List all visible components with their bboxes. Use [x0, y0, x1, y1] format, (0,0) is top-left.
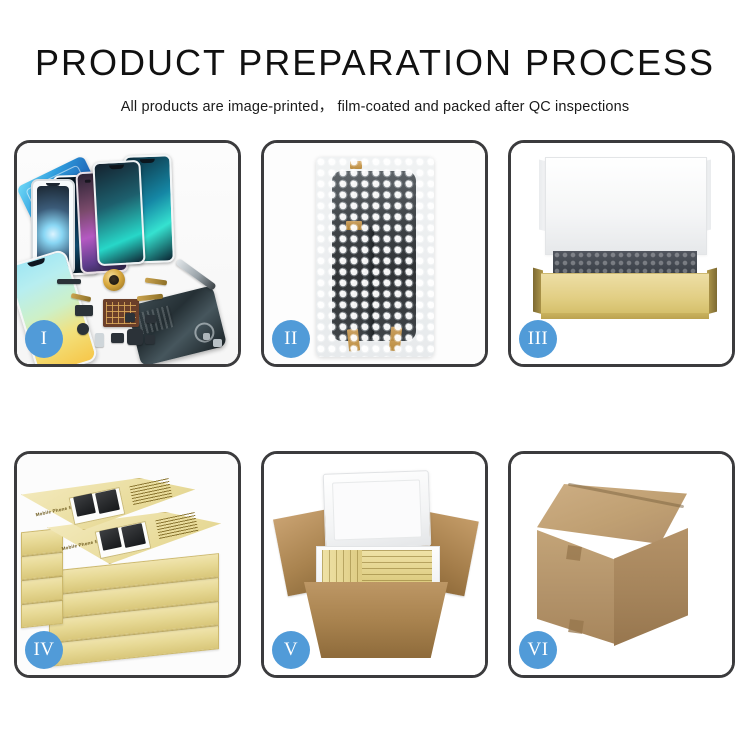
small-part [75, 305, 93, 316]
box-bubble-contents [553, 251, 697, 275]
step-badge: V [272, 631, 310, 669]
header: PRODUCT PREPARATION PROCESS All products… [0, 0, 750, 116]
page-subtitle: All products are image-printed， film-coa… [0, 82, 750, 116]
small-part [127, 329, 143, 345]
box-print-screen-image [121, 523, 146, 548]
stacked-box [21, 552, 63, 580]
step-badge: IV [25, 631, 63, 669]
carton-tape [566, 545, 582, 561]
box-kraft-body [541, 273, 709, 316]
step-panel-4: Mobile Phone Spare Parts Mobile Phone Sp… [14, 451, 241, 678]
foam-lid [323, 470, 432, 550]
phone-screen-1 [92, 160, 145, 266]
small-part [213, 339, 222, 347]
box-print-screen-image [73, 493, 96, 517]
steps-grid: I II [14, 140, 736, 678]
step-panel-1: I [14, 140, 241, 367]
small-part [77, 323, 89, 335]
step-badge: III [519, 320, 557, 358]
small-part [57, 279, 81, 284]
step-panel-3: III [508, 140, 735, 367]
step-badge: VI [519, 631, 557, 669]
carton-body [304, 582, 448, 658]
small-part [145, 315, 156, 323]
stacked-box [21, 600, 63, 628]
carton-tape [568, 619, 584, 634]
step-panel-6: VI [508, 451, 735, 678]
box-kraft-base [541, 313, 709, 319]
speaker-coil-part [103, 269, 125, 291]
product-preparation-infographic: PRODUCT PREPARATION PROCESS All products… [0, 0, 750, 750]
box-white-lid [545, 157, 707, 255]
small-part [125, 313, 135, 322]
bubble-texture-highlight [316, 157, 434, 357]
stacked-box [21, 576, 63, 604]
step-panel-2: II [261, 140, 488, 367]
page-title: PRODUCT PREPARATION PROCESS [0, 0, 750, 82]
small-part [145, 335, 155, 344]
small-part [203, 333, 210, 340]
box-print-screen-image [95, 489, 120, 514]
small-part [95, 333, 104, 347]
bubble-wrap-bag [316, 157, 434, 357]
step-badge: I [25, 320, 63, 358]
box-print-screen-image [99, 527, 122, 551]
step-badge: II [272, 320, 310, 358]
step-panel-5: V [261, 451, 488, 678]
small-part [111, 333, 124, 343]
